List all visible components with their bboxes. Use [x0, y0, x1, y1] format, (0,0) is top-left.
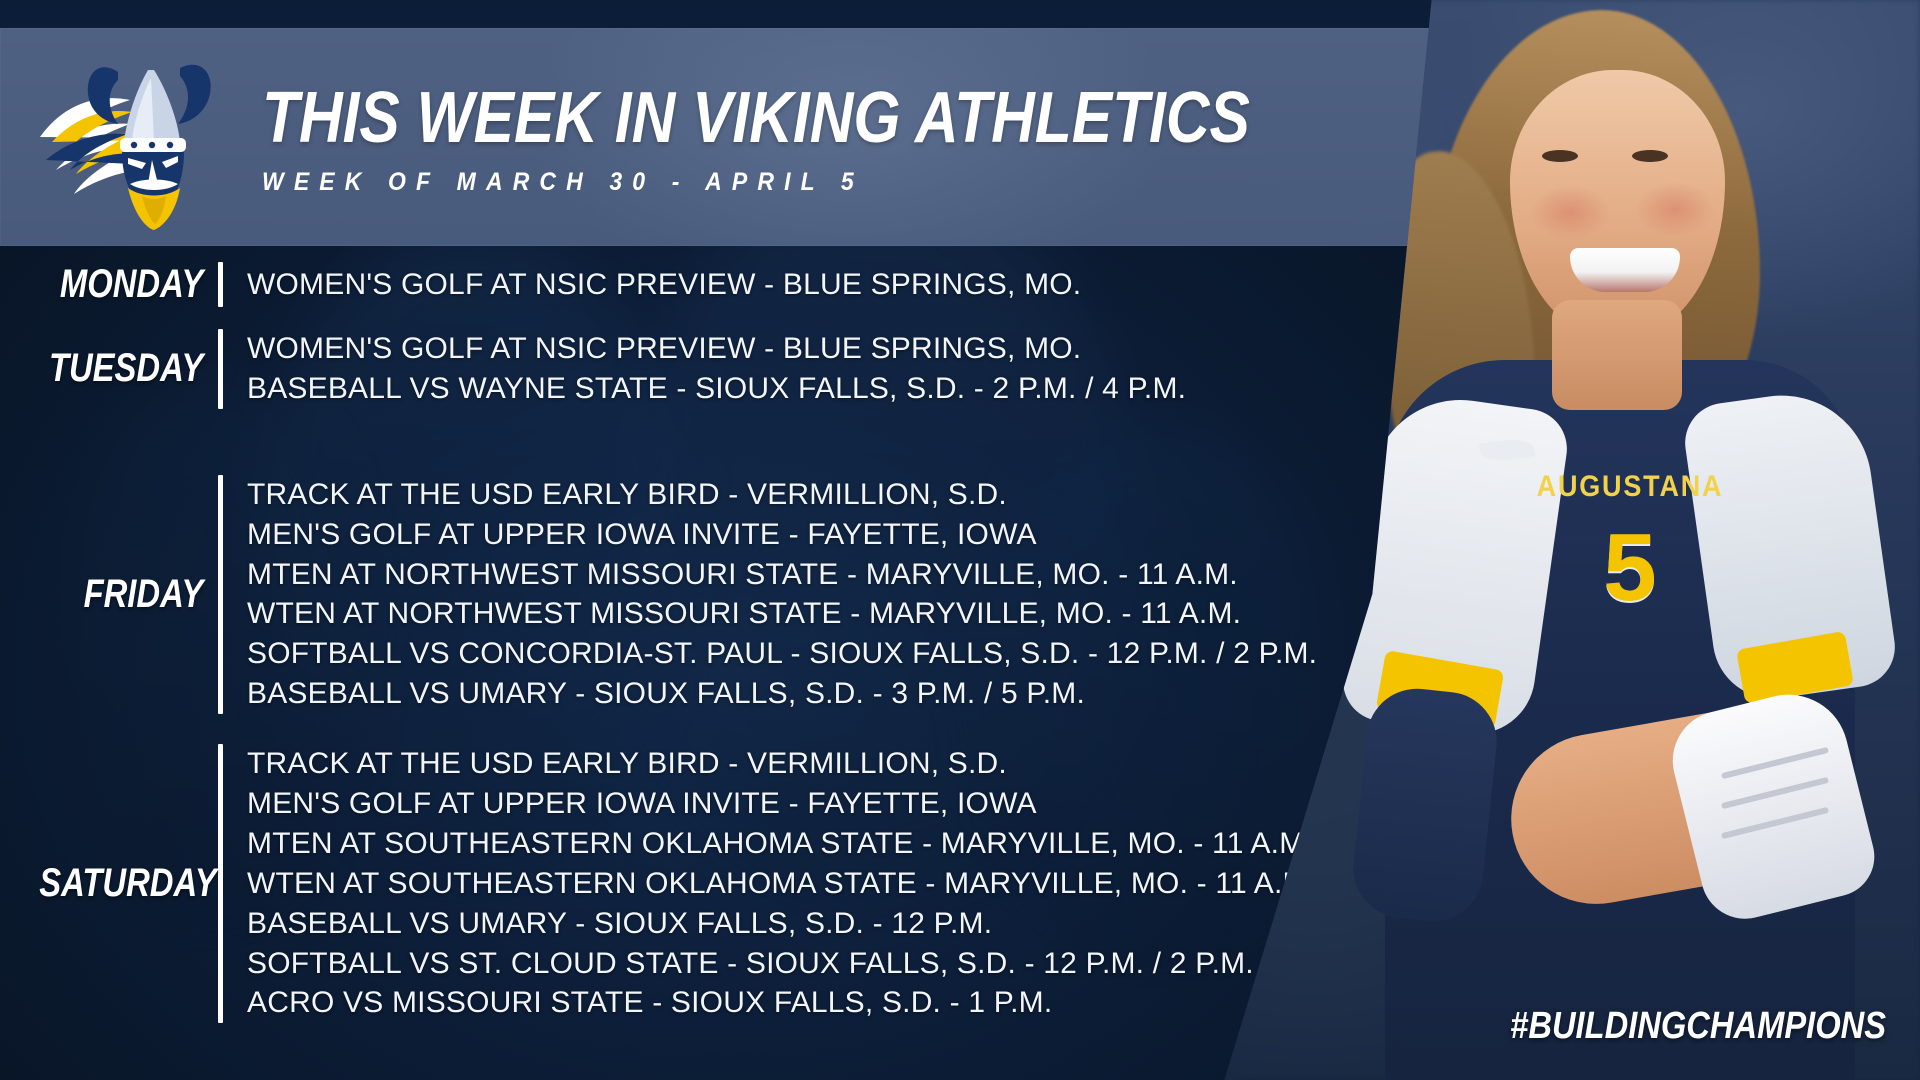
athlete-cheek-right — [1635, 182, 1715, 237]
event-line: BASEBALL VS UMARY - SIOUX FALLS, S.D. - … — [247, 674, 1400, 714]
athlete-eye-right — [1632, 150, 1668, 162]
athlete-neck — [1552, 300, 1682, 410]
day-row: FRIDAYTRACK AT THE USD EARLY BIRD - VERM… — [0, 475, 1400, 714]
augustana-viking-logo — [30, 42, 250, 232]
event-line: SOFTBALL VS ST. CLOUD STATE - SIOUX FALL… — [247, 944, 1400, 984]
day-divider — [218, 475, 223, 714]
header-band: THIS WEEK IN VIKING ATHLETICS WEEK OF MA… — [0, 28, 1545, 246]
event-line: BASEBALL VS WAYNE STATE - SIOUX FALLS, S… — [247, 369, 1400, 409]
athlete-cheek-left — [1530, 185, 1610, 240]
day-row: TUESDAYWOMEN'S GOLF AT NSIC PREVIEW - BL… — [0, 329, 1400, 409]
event-list: TRACK AT THE USD EARLY BIRD - VERMILLION… — [247, 475, 1400, 714]
athlete-smile — [1570, 248, 1680, 292]
event-list: WOMEN'S GOLF AT NSIC PREVIEW - BLUE SPRI… — [247, 265, 1400, 305]
day-label-saturday: SATURDAY — [39, 861, 218, 906]
event-line: ACRO VS MISSOURI STATE - SIOUX FALLS, S.… — [247, 983, 1400, 1023]
page-title: THIS WEEK IN VIKING ATHLETICS — [262, 83, 1250, 154]
event-line: SOFTBALL VS CONCORDIA-ST. PAUL - SIOUX F… — [247, 634, 1400, 674]
event-line: WTEN AT SOUTHEASTERN OKLAHOMA STATE - MA… — [247, 864, 1400, 904]
graphic-canvas: THIS WEEK IN VIKING ATHLETICS WEEK OF MA… — [0, 0, 1920, 1080]
event-line: MTEN AT SOUTHEASTERN OKLAHOMA STATE - MA… — [247, 824, 1400, 864]
event-line: WOMEN'S GOLF AT NSIC PREVIEW - BLUE SPRI… — [247, 265, 1400, 305]
jersey-number: 5 — [1480, 520, 1780, 616]
day-divider — [218, 329, 223, 409]
event-line: MEN'S GOLF AT UPPER IOWA INVITE - FAYETT… — [247, 784, 1400, 824]
athlete-eye-left — [1542, 150, 1578, 162]
header-top-strip — [0, 0, 1545, 28]
day-divider — [218, 262, 223, 307]
event-line: BASEBALL VS UMARY - SIOUX FALLS, S.D. - … — [247, 904, 1400, 944]
day-divider — [218, 744, 223, 1023]
athlete-sleeve — [1348, 684, 1501, 926]
event-line: WOMEN'S GOLF AT NSIC PREVIEW - BLUE SPRI… — [247, 329, 1400, 369]
day-row: SATURDAYTRACK AT THE USD EARLY BIRD - VE… — [0, 744, 1400, 1023]
day-row: MONDAYWOMEN'S GOLF AT NSIC PREVIEW - BLU… — [0, 262, 1400, 307]
event-line: MEN'S GOLF AT UPPER IOWA INVITE - FAYETT… — [247, 515, 1400, 555]
event-line: MTEN AT NORTHWEST MISSOURI STATE - MARYV… — [247, 555, 1400, 595]
day-label-friday: FRIDAY — [39, 572, 218, 617]
schedule-list: MONDAYWOMEN'S GOLF AT NSIC PREVIEW - BLU… — [0, 262, 1400, 1029]
day-label-monday: MONDAY — [39, 262, 218, 307]
event-line: TRACK AT THE USD EARLY BIRD - VERMILLION… — [247, 475, 1400, 515]
event-list: TRACK AT THE USD EARLY BIRD - VERMILLION… — [247, 744, 1400, 1023]
event-line: TRACK AT THE USD EARLY BIRD - VERMILLION… — [247, 744, 1400, 784]
event-list: WOMEN'S GOLF AT NSIC PREVIEW - BLUE SPRI… — [247, 329, 1400, 409]
day-label-tuesday: TUESDAY — [39, 346, 218, 391]
header-text-block: THIS WEEK IN VIKING ATHLETICS WEEK OF MA… — [262, 77, 1438, 197]
jersey-team-name: AUGUSTANA — [1495, 470, 1765, 504]
hashtag-building-champions: #BUILDINGCHAMPIONS — [1510, 1005, 1886, 1048]
page-subtitle: WEEK OF MARCH 30 - APRIL 5 — [262, 168, 1344, 197]
event-line: WTEN AT NORTHWEST MISSOURI STATE - MARYV… — [247, 594, 1400, 634]
